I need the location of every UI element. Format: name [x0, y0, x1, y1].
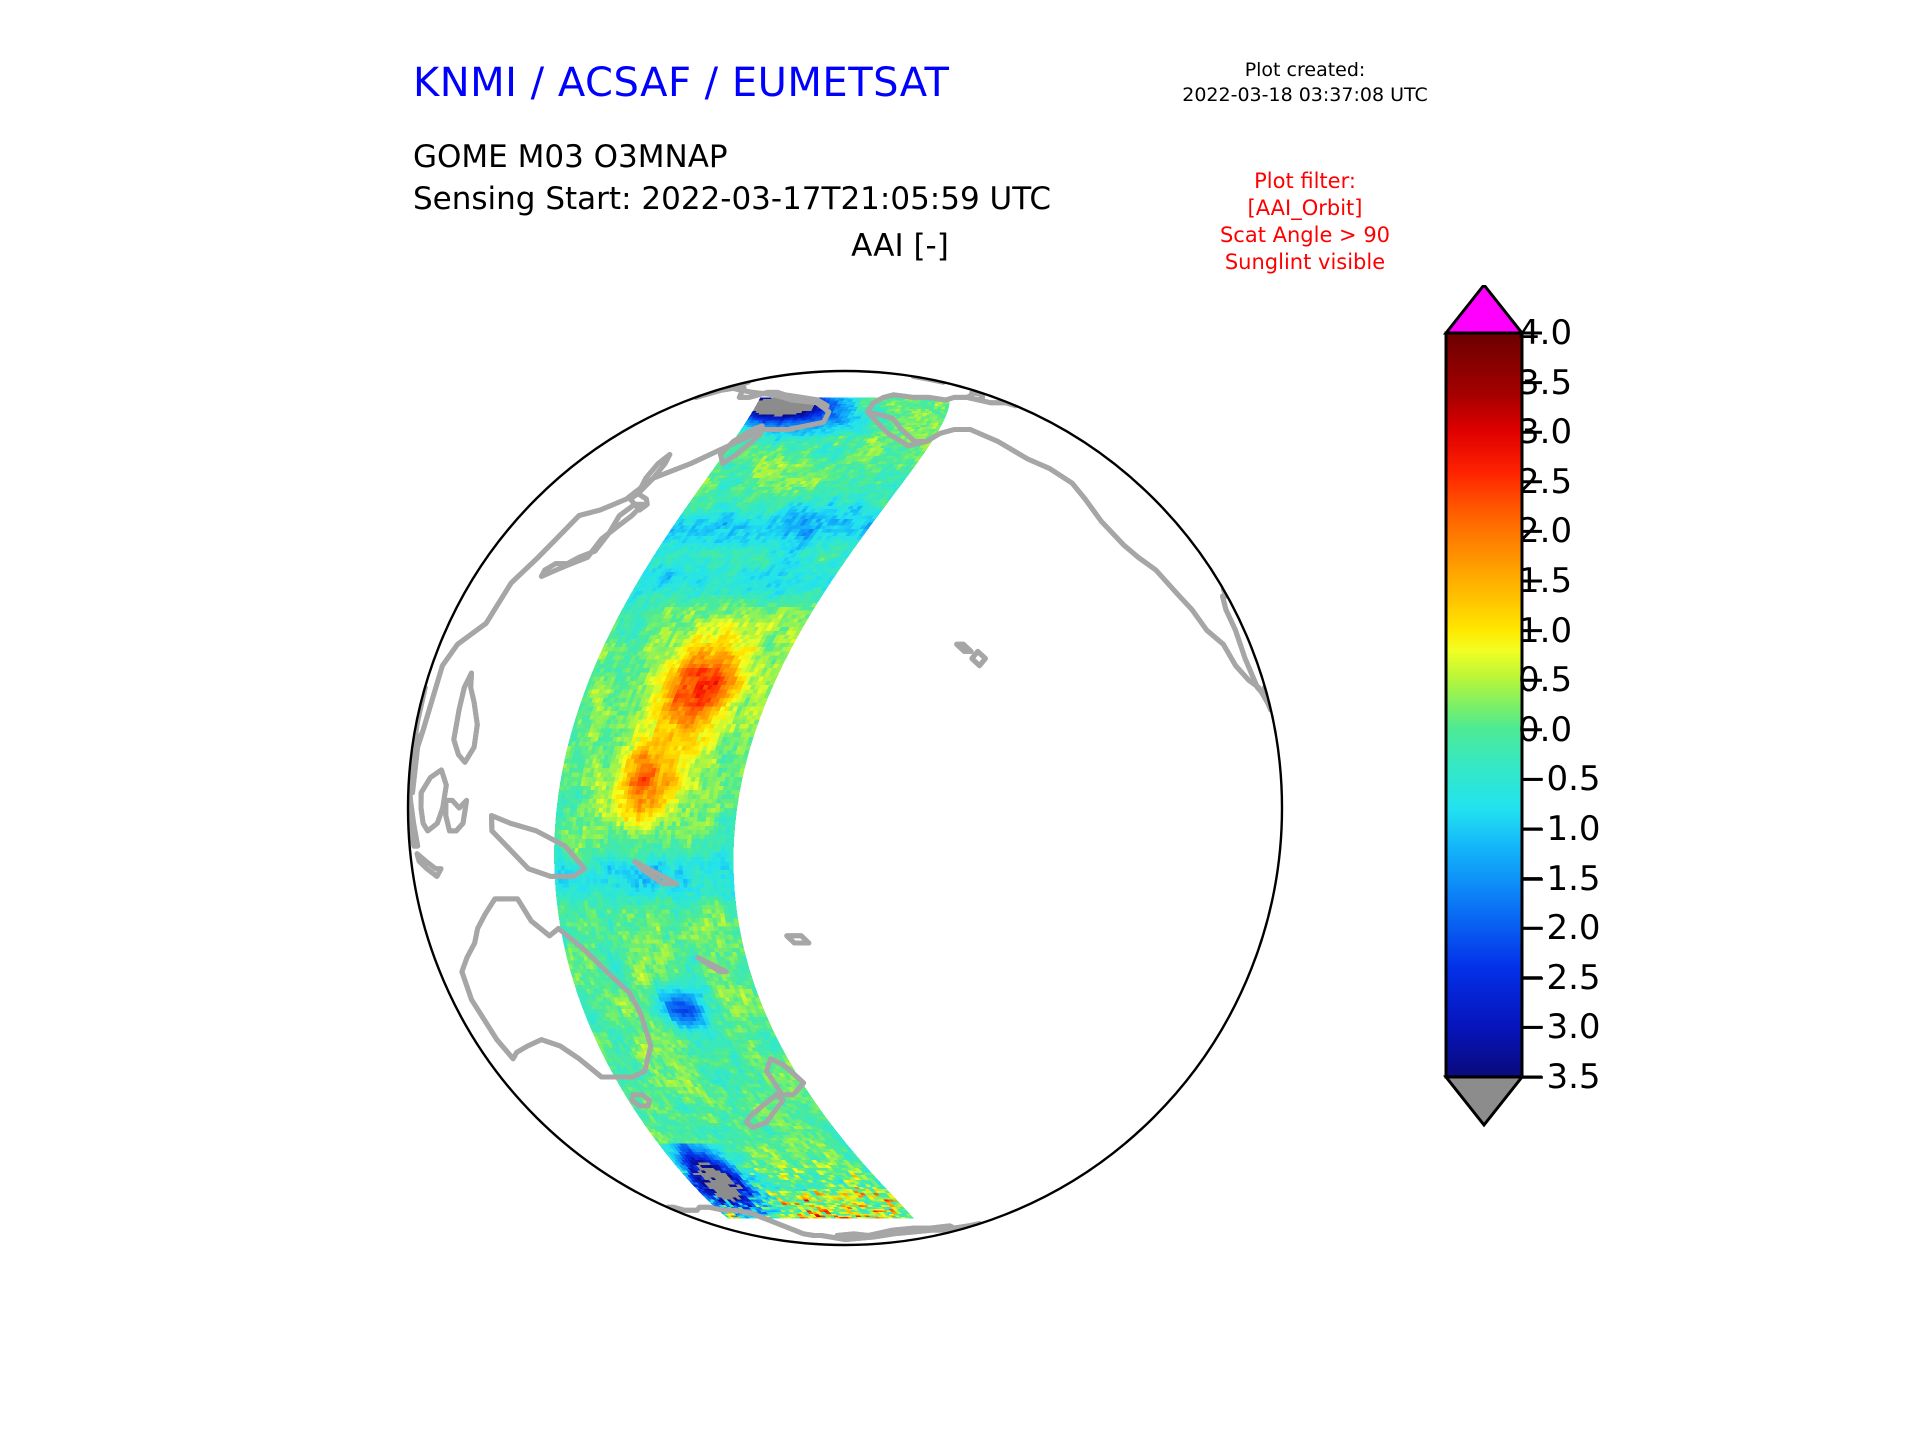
- plot-canvas: KNMI / ACSAF / EUMETSAT Plot created: 20…: [0, 0, 1920, 1440]
- colorbar-tick-label: −2.0: [1518, 911, 1601, 945]
- colorbar-tick-label: −0.5: [1518, 762, 1601, 796]
- colorbar-tick-label: −1.0: [1518, 812, 1601, 846]
- orthographic-map: [400, 288, 1290, 1328]
- plot-filter-label: Plot filter:: [1150, 168, 1460, 195]
- plot-created-label: Plot created:: [1160, 58, 1450, 83]
- globe-svg: [400, 288, 1290, 1328]
- colorbar-tick-label: −3.5: [1518, 1060, 1601, 1094]
- plot-filter-scat-angle: Scat Angle > 90: [1150, 222, 1460, 249]
- plot-created-time: 2022-03-18 03:37:08 UTC: [1160, 83, 1450, 108]
- colorbar-tick-label: 4.0: [1518, 316, 1572, 350]
- colorbar-under-arrow: [1446, 1077, 1522, 1125]
- instrument-line: GOME M03 O3MNAP: [413, 136, 1051, 178]
- colorbar-tick-label: −3.0: [1518, 1010, 1601, 1044]
- colorbar-tick-label: 0.0: [1518, 713, 1572, 747]
- quantity-title: AAI [-]: [740, 228, 1060, 264]
- plot-filter-name: [AAI_Orbit]: [1150, 195, 1460, 222]
- plot-created-block: Plot created: 2022-03-18 03:37:08 UTC: [1160, 58, 1450, 108]
- plot-filter-block: Plot filter: [AAI_Orbit] Scat Angle > 90…: [1150, 168, 1460, 276]
- colorbar-tick-label: 1.0: [1518, 614, 1572, 648]
- organisation-title: KNMI / ACSAF / EUMETSAT: [413, 60, 949, 106]
- sensing-start-line: Sensing Start: 2022-03-17T21:05:59 UTC: [413, 178, 1051, 220]
- colorbar: 4.03.53.02.52.01.51.00.50.0−0.5−1.0−1.5−…: [1430, 285, 1760, 1335]
- colorbar-tick-label: −1.5: [1518, 862, 1601, 896]
- plot-filter-sunglint: Sunglint visible: [1150, 249, 1460, 276]
- product-title-block: GOME M03 O3MNAP Sensing Start: 2022-03-1…: [413, 136, 1051, 220]
- colorbar-gradient: [1446, 333, 1522, 1077]
- colorbar-over-arrow: [1446, 285, 1522, 333]
- colorbar-tick-label: 0.5: [1518, 663, 1572, 697]
- colorbar-tick-label: −2.5: [1518, 961, 1601, 995]
- colorbar-tick-label: 3.0: [1518, 415, 1572, 449]
- colorbar-tick-label: 2.5: [1518, 465, 1572, 499]
- colorbar-tick-label: 3.5: [1518, 366, 1572, 400]
- colorbar-tick-label: 1.5: [1518, 564, 1572, 598]
- colorbar-tick-label: 2.0: [1518, 514, 1572, 548]
